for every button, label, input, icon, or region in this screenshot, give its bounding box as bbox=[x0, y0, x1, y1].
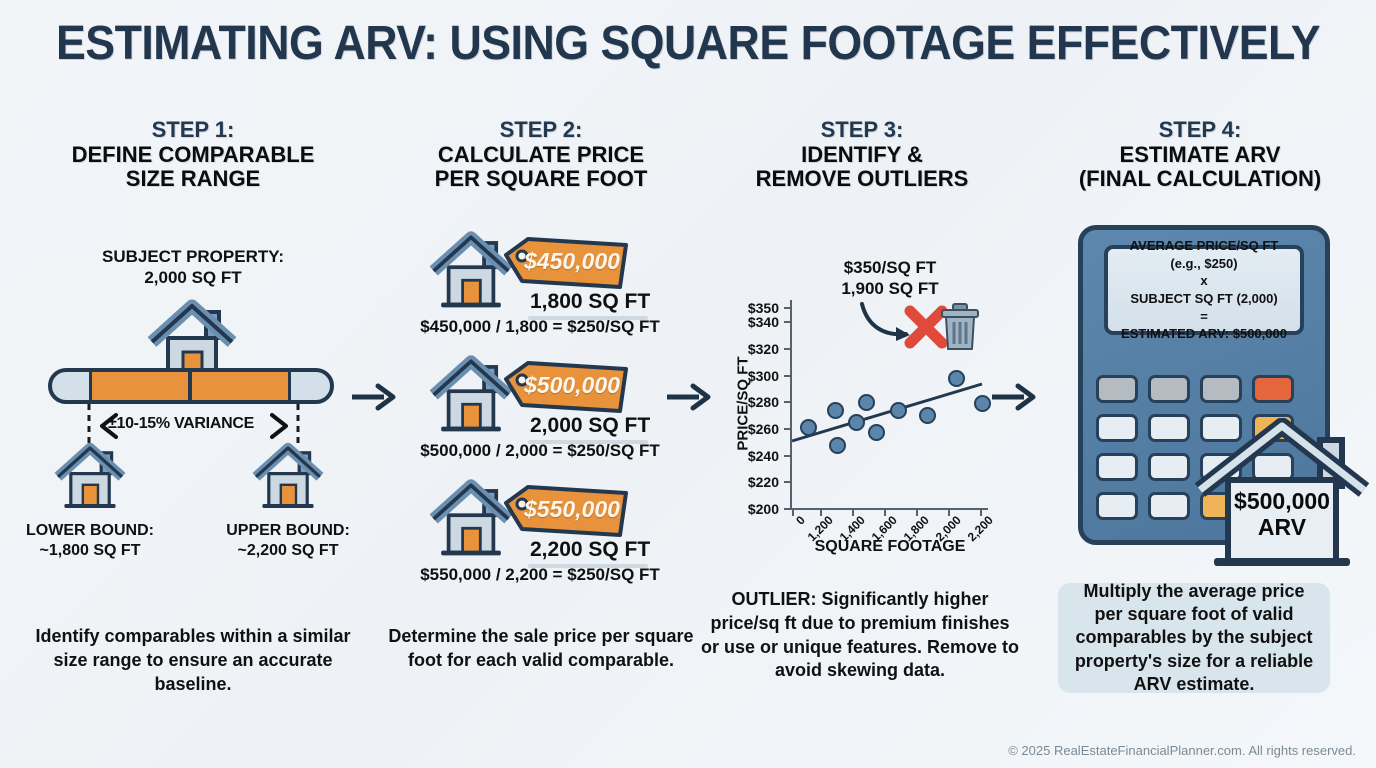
arv-value: $500,000 bbox=[1197, 489, 1367, 515]
calc-line-5: = bbox=[1121, 308, 1287, 326]
calculator-key[interactable] bbox=[1148, 375, 1190, 403]
arrow-right-icon-2 bbox=[665, 380, 711, 414]
calculator-key[interactable] bbox=[1096, 453, 1138, 481]
step-1-column: STEP 1: DEFINE COMPARABLE SIZE RANGE bbox=[30, 118, 356, 192]
step-3-title-line-1: IDENTIFY & bbox=[712, 143, 1012, 168]
calculator-key[interactable] bbox=[1200, 375, 1242, 403]
chart-point bbox=[948, 370, 965, 387]
footer-copyright: © 2025 RealEstateFinancialPlanner.com. A… bbox=[1008, 743, 1356, 758]
step-4-header: STEP 4: ESTIMATE ARV (FINAL CALCULATION) bbox=[1040, 118, 1360, 192]
upper-bound-line-1: UPPER BOUND: bbox=[188, 521, 388, 541]
arrow-right-icon-1 bbox=[350, 380, 396, 414]
comp-formula-3: $550,000 / 2,200 = $250/SQ FT bbox=[390, 565, 690, 585]
lower-bound-house-icon bbox=[53, 440, 127, 512]
calculator-key[interactable] bbox=[1148, 453, 1190, 481]
step-3-header: STEP 3: IDENTIFY & REMOVE OUTLIERS bbox=[712, 118, 1012, 192]
chart-y-axis-title: PRICE/SQ FT bbox=[735, 344, 752, 464]
chart-point bbox=[858, 394, 875, 411]
step-3-column: STEP 3: IDENTIFY & REMOVE OUTLIERS bbox=[712, 118, 1012, 192]
step-2-title-line-1: CALCULATE PRICE bbox=[396, 143, 686, 168]
calc-line-3: x bbox=[1121, 272, 1287, 290]
chart-x-axis-title: SQUARE FOOTAGE bbox=[790, 538, 990, 556]
chart-point bbox=[800, 419, 817, 436]
chart-point bbox=[868, 424, 885, 441]
price-tag-label-1: $450,000 bbox=[524, 248, 620, 275]
price-tag-label-2: $500,000 bbox=[524, 372, 620, 399]
page-title: ESTIMATING ARV: USING SQUARE FOOTAGE EFF… bbox=[48, 16, 1328, 71]
step-4-title-line-1: ESTIMATE ARV bbox=[1040, 143, 1360, 168]
step-3-caption: OUTLIER: Significantly higher price/sq f… bbox=[700, 588, 1020, 683]
comp-sqft-2: 2,000 SQ FT bbox=[530, 414, 650, 438]
comp-sqft-3: 2,200 SQ FT bbox=[530, 538, 650, 562]
step-1-caption: Identify comparables within a similar si… bbox=[30, 625, 356, 696]
comp-sqft-1: 1,800 SQ FT bbox=[530, 290, 650, 314]
step-4-label: STEP 4: bbox=[1040, 118, 1360, 143]
outlier-callout-line-2: 1,900 SQ FT bbox=[800, 278, 980, 299]
step-3-title-line-2: REMOVE OUTLIERS bbox=[712, 167, 1012, 192]
price-tag-label-3: $550,000 bbox=[524, 496, 620, 523]
calculator-key-clear[interactable] bbox=[1252, 375, 1294, 403]
calculator-key[interactable] bbox=[1096, 375, 1138, 403]
step-4-caption: Multiply the average price per square fo… bbox=[1058, 583, 1330, 693]
step-4-column: STEP 4: ESTIMATE ARV (FINAL CALCULATION) bbox=[1040, 118, 1360, 192]
step-3-caption-lead: OUTLIER: bbox=[731, 589, 816, 609]
chart-ylabel-340: $340 bbox=[727, 314, 779, 330]
comp-formula-1: $450,000 / 1,800 = $250/SQ FT bbox=[390, 317, 690, 337]
step-1-title-line-1: DEFINE COMPARABLE bbox=[30, 143, 356, 168]
calculator-key[interactable] bbox=[1148, 414, 1190, 442]
outlier-callout-label: $350/SQ FT 1,900 SQ FT bbox=[800, 257, 980, 300]
step-3-label: STEP 3: bbox=[712, 118, 1012, 143]
subject-property-line-2: 2,000 SQ FT bbox=[43, 267, 343, 288]
calc-line-6: ESTIMATED ARV: $500,000 bbox=[1121, 325, 1287, 343]
comp-formula-2: $500,000 / 2,000 = $250/SQ FT bbox=[390, 441, 690, 461]
subject-property-line-1: SUBJECT PROPERTY: bbox=[43, 246, 343, 267]
calc-line-2: (e.g., $250) bbox=[1121, 255, 1287, 273]
step-2-label: STEP 2: bbox=[396, 118, 686, 143]
calc-line-1: AVERAGE PRICE/SQ FT bbox=[1121, 237, 1287, 255]
chart-point bbox=[848, 414, 865, 431]
lower-bound-label: LOWER BOUND: ~1,800 SQ FT bbox=[0, 521, 190, 561]
arv-suffix: ARV bbox=[1197, 515, 1367, 541]
calculator-key[interactable] bbox=[1148, 492, 1190, 520]
outlier-callout-line-1: $350/SQ FT bbox=[800, 257, 980, 278]
arrow-right-icon-3 bbox=[990, 380, 1036, 414]
upper-bound-label: UPPER BOUND: ~2,200 SQ FT bbox=[188, 521, 388, 561]
size-range-ruler-icon bbox=[48, 366, 334, 406]
calculator-screen: AVERAGE PRICE/SQ FT (e.g., $250) x SUBJE… bbox=[1104, 245, 1304, 335]
chart-ylabel-200: $200 bbox=[727, 501, 779, 517]
lower-bound-line-1: LOWER BOUND: bbox=[0, 521, 190, 541]
subject-property-label: SUBJECT PROPERTY: 2,000 SQ FT bbox=[43, 246, 343, 289]
calculator-key[interactable] bbox=[1096, 414, 1138, 442]
infographic-page: ESTIMATING ARV: USING SQUARE FOOTAGE EFF… bbox=[0, 0, 1376, 768]
calc-line-4: SUBJECT SQ FT (2,000) bbox=[1121, 290, 1287, 308]
chart-point bbox=[829, 437, 846, 454]
chart-point bbox=[919, 407, 936, 424]
step-2-column: STEP 2: CALCULATE PRICE PER SQUARE FOOT bbox=[396, 118, 686, 192]
upper-bound-line-2: ~2,200 SQ FT bbox=[188, 541, 388, 561]
chart-ylabel-220: $220 bbox=[727, 474, 779, 490]
chart-point bbox=[890, 402, 907, 419]
lower-bound-line-2: ~1,800 SQ FT bbox=[0, 541, 190, 561]
step-1-title-line-2: SIZE RANGE bbox=[30, 167, 356, 192]
calculator-key[interactable] bbox=[1096, 492, 1138, 520]
chart-point bbox=[974, 395, 991, 412]
step-2-header: STEP 2: CALCULATE PRICE PER SQUARE FOOT bbox=[396, 118, 686, 192]
step-1-label: STEP 1: bbox=[30, 118, 356, 143]
arv-house-label: $500,000 ARV bbox=[1197, 489, 1367, 541]
step-2-title-line-2: PER SQUARE FOOT bbox=[396, 167, 686, 192]
upper-bound-house-icon bbox=[251, 440, 325, 512]
chart-point bbox=[827, 402, 844, 419]
step-2-caption: Determine the sale price per square foot… bbox=[385, 625, 697, 673]
step-4-title-line-2: (FINAL CALCULATION) bbox=[1040, 167, 1360, 192]
step-1-header: STEP 1: DEFINE COMPARABLE SIZE RANGE bbox=[30, 118, 356, 192]
variance-label: ±10-15% VARIANCE bbox=[108, 415, 254, 433]
calculator-screen-text: AVERAGE PRICE/SQ FT (e.g., $250) x SUBJE… bbox=[1121, 237, 1287, 342]
